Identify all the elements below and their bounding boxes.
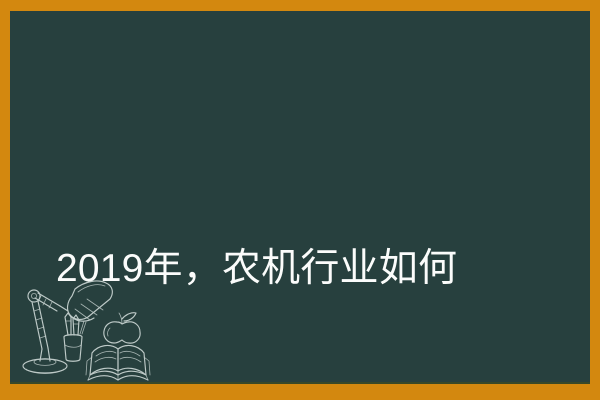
chalkboard-panel: 2019年，农机行业如何 ，拖拉机，收割机？ [10, 11, 590, 384]
article-title-card: 2019年，农机行业如何 ，拖拉机，收割机？ [0, 0, 600, 400]
page-title-line-1: 2019年，农机行业如何 [56, 241, 556, 297]
board-bottom-seam [10, 382, 590, 384]
page-title: 2019年，农机行业如何 ，拖拉机，收割机？ [56, 129, 556, 384]
